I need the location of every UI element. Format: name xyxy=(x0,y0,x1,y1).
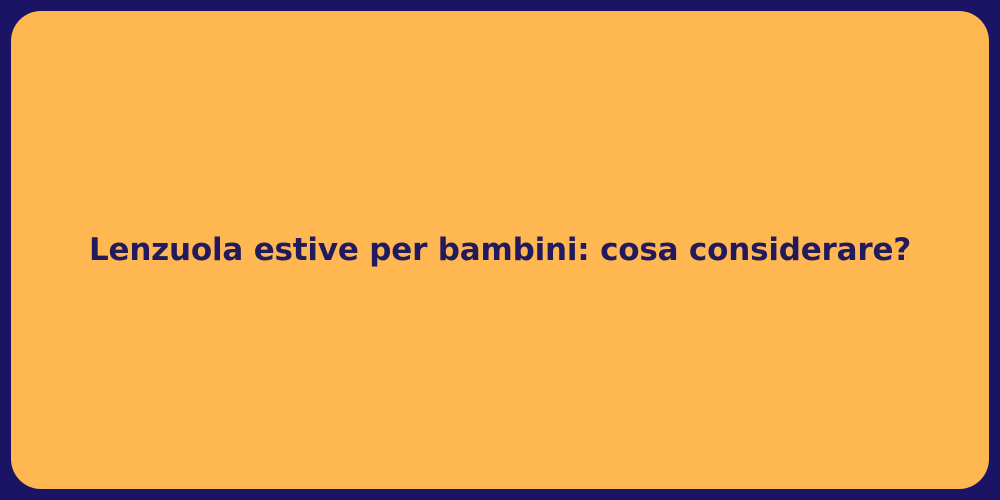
page-title: Lenzuola estive per bambini: cosa consid… xyxy=(49,231,951,270)
banner-card: Lenzuola estive per bambini: cosa consid… xyxy=(11,11,989,489)
banner-root: Lenzuola estive per bambini: cosa consid… xyxy=(0,0,1000,500)
